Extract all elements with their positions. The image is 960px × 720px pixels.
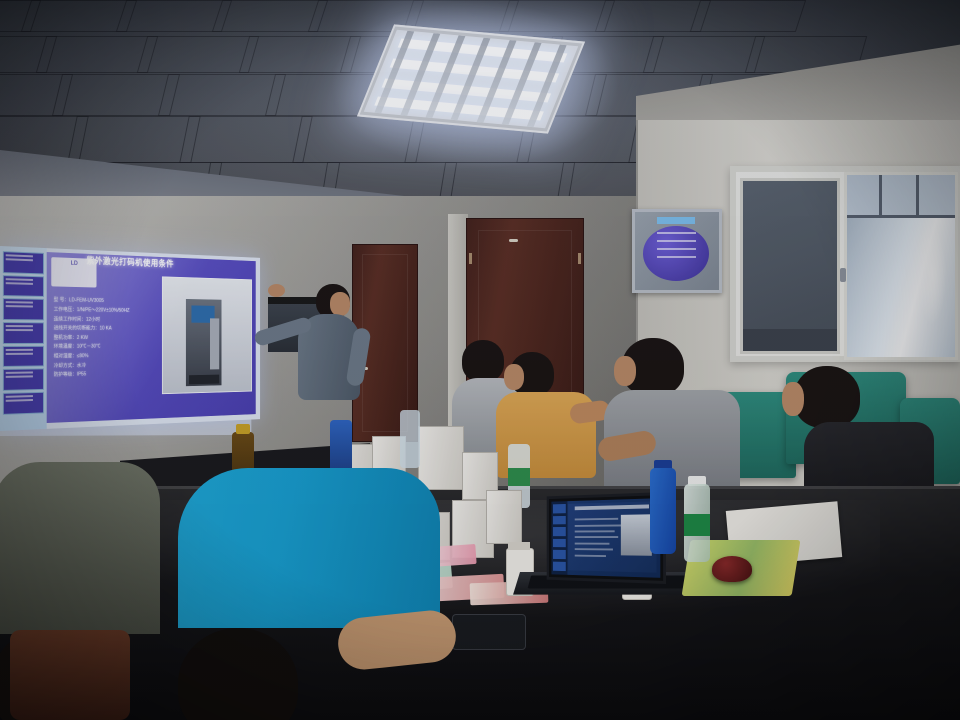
bottle-label — [508, 468, 530, 486]
computer-mouse[interactable] — [712, 556, 752, 582]
fluorescent-light-icon — [357, 24, 585, 133]
window-latch-icon[interactable] — [840, 268, 846, 282]
door-handle-icon[interactable] — [509, 239, 518, 242]
laptop-screen — [547, 492, 666, 584]
blue-glass-bottle[interactable] — [650, 468, 676, 554]
wall-poster — [632, 209, 722, 293]
screen-glare — [47, 252, 256, 424]
slide-thumbnail[interactable] — [3, 251, 44, 274]
slide-thumbnail[interactable] — [3, 392, 44, 415]
slide-thumbnail[interactable] — [3, 322, 44, 344]
slide-canvas: LD 型 号：LD-FEM-UV3005 工作电压：1/N/PE～220V±10… — [47, 252, 256, 424]
attendee-shirt — [178, 468, 440, 628]
slide-thumbnail-panel[interactable] — [0, 246, 47, 431]
attendee-face — [614, 356, 636, 386]
attendee-head — [178, 628, 298, 720]
presenter-hand — [268, 284, 285, 297]
slide-thumbnail[interactable] — [3, 298, 44, 320]
slide-thumbnail[interactable] — [3, 275, 44, 298]
water-bottle[interactable] — [400, 410, 420, 468]
projection-screen: LD 型 号：LD-FEM-UV3005 工作电压：1/N/PE～220V±10… — [0, 246, 260, 431]
photo-scene: LD 型 号：LD-FEM-UV3005 工作电压：1/N/PE～220V±10… — [0, 0, 960, 720]
window-glare — [918, 222, 946, 324]
bottle-label — [684, 514, 710, 536]
bottle-cap — [236, 424, 250, 434]
window-pane-left — [740, 178, 840, 354]
product-carton[interactable] — [486, 490, 522, 544]
laptop-slide-image — [621, 514, 652, 555]
attendee-cyan-polo — [178, 468, 448, 720]
attendee-shirt — [0, 462, 160, 634]
presenter — [268, 284, 386, 449]
laptop-slide-title — [575, 505, 649, 511]
laptop-slide-thumbnails[interactable] — [551, 501, 567, 575]
attendee-face — [504, 364, 524, 390]
laptop-slide — [569, 501, 657, 572]
window-pane-right — [844, 172, 958, 360]
poster-heading — [657, 217, 696, 224]
chair-wooden[interactable] — [10, 630, 130, 720]
attendee-face — [782, 382, 804, 416]
window-pane-left-sill — [743, 329, 837, 351]
window — [730, 166, 960, 362]
laptop-display — [551, 498, 660, 578]
mobile-phone[interactable] — [452, 614, 526, 650]
poster-circle-graphic — [643, 226, 709, 281]
presenter-face — [330, 292, 350, 316]
door-hinge-icon — [578, 253, 581, 264]
slide-thumbnail[interactable] — [3, 346, 44, 368]
slide-thumbnail[interactable] — [3, 369, 44, 391]
door-hinge-icon — [469, 253, 472, 264]
attendee-gray-tee — [604, 338, 744, 488]
